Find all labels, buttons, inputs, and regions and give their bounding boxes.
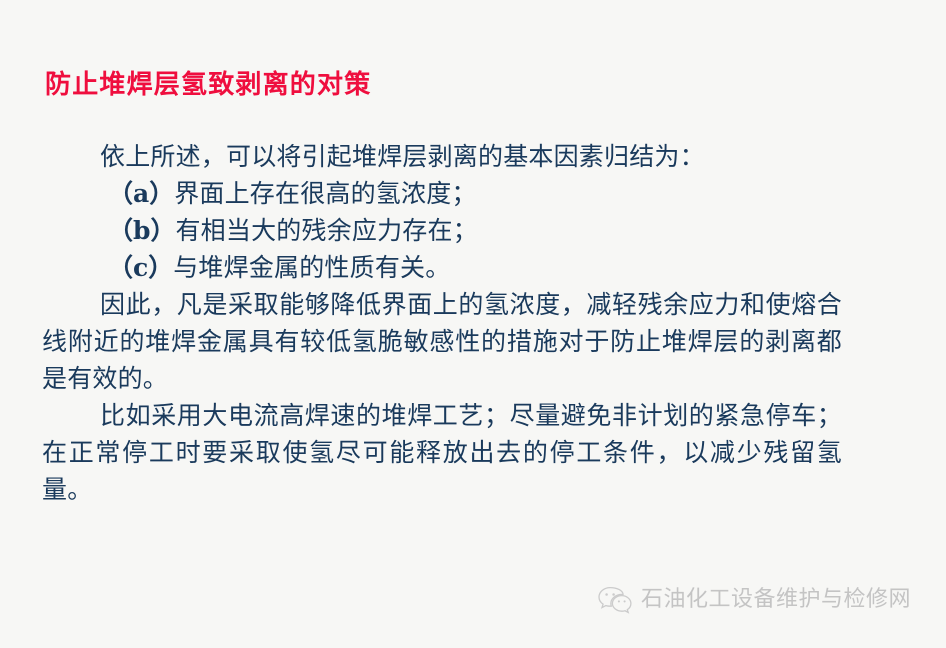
footer-watermark: 石油化工设备维护与检修网 — [598, 586, 911, 614]
list-item: （c）与堆焊金属的性质有关。 — [42, 249, 842, 286]
conclusion-paragraph: 因此，凡是采取能够降低界面上的氢浓度，减轻残余应力和使熔合线附近的堆焊金属具有较… — [42, 286, 842, 397]
page-title: 防止堆焊层氢致剥离的对策 — [45, 71, 371, 101]
list-item-marker: （b） — [108, 216, 175, 245]
slide-canvas: 防止堆焊层氢致剥离的对策 依上所述，可以将引起堆焊层剥离的基本因素归结为： （a… — [0, 0, 946, 648]
list-item-label: 与堆焊金属的性质有关。 — [173, 253, 450, 282]
list-item-label: 界面上存在很高的氢浓度； — [174, 179, 476, 208]
wechat-icon — [598, 586, 632, 614]
list-item: （a）界面上存在很高的氢浓度； — [42, 175, 842, 212]
slide-body: 依上所述，可以将引起堆焊层剥离的基本因素归结为： （a）界面上存在很高的氢浓度；… — [42, 138, 842, 508]
list-item: （b）有相当大的残余应力存在； — [42, 212, 842, 249]
measures-paragraph: 比如采用大电流高焊速的堆焊工艺；尽量避免非计划的紧急停车；在正常停工时要采取使氢… — [42, 397, 842, 508]
intro-paragraph: 依上所述，可以将引起堆焊层剥离的基本因素归结为： — [42, 138, 842, 175]
list-item-marker: （a） — [108, 179, 174, 208]
list-item-label: 有相当大的残余应力存在； — [175, 216, 477, 245]
footer-label: 石油化工设备维护与检修网 — [641, 589, 911, 611]
list-item-marker: （c） — [108, 253, 173, 282]
